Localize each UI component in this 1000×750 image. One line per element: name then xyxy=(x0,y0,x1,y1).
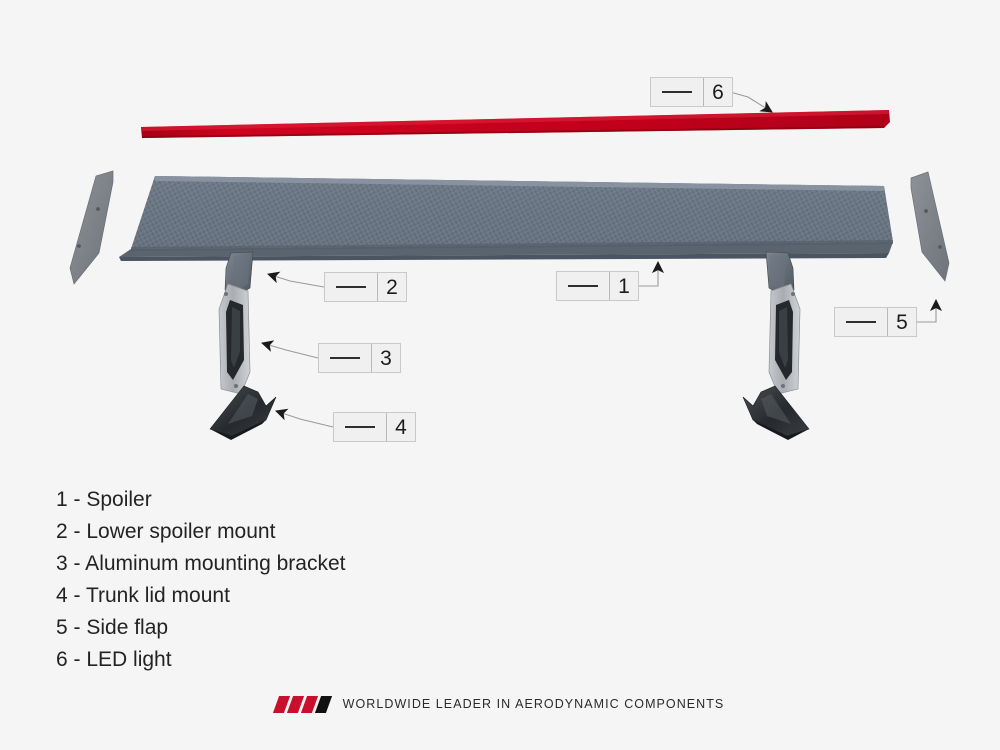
callout-number: 6 xyxy=(704,78,732,106)
part-aluminum-bracket-right xyxy=(769,284,800,394)
callout-dash-cell xyxy=(835,308,888,336)
callout-number: 1 xyxy=(610,272,638,300)
callout-number: 2 xyxy=(378,273,406,301)
dash-icon xyxy=(846,321,876,323)
part-led-light xyxy=(141,110,890,138)
parts-legend: 1 - Spoiler 2 - Lower spoiler mount 3 - … xyxy=(56,484,345,676)
diagram-canvas: 6 2 1 5 3 4 1 - Spoiler 2 - Lower spoile… xyxy=(0,0,1000,750)
dash-icon xyxy=(568,285,598,287)
callout-dash-cell xyxy=(557,272,610,300)
callout-dash-cell xyxy=(325,273,378,301)
legend-item: 4 - Trunk lid mount xyxy=(56,580,345,612)
callout-6[interactable]: 6 xyxy=(650,77,733,107)
callout-4[interactable]: 4 xyxy=(333,412,416,442)
callout-3[interactable]: 3 xyxy=(318,343,401,373)
dash-icon xyxy=(345,426,375,428)
dash-icon xyxy=(336,286,366,288)
callout-dash-cell xyxy=(319,344,372,372)
callout-dash-cell xyxy=(334,413,387,441)
callout-1[interactable]: 1 xyxy=(556,271,639,301)
part-side-flap-right xyxy=(911,172,949,281)
footer-bar: WORLDWIDE LEADER IN AERODYNAMIC COMPONEN… xyxy=(0,692,1000,716)
footer-tagline: WORLDWIDE LEADER IN AERODYNAMIC COMPONEN… xyxy=(343,697,725,711)
legend-item: 2 - Lower spoiler mount xyxy=(56,516,345,548)
dash-icon xyxy=(330,357,360,359)
callout-number: 4 xyxy=(387,413,415,441)
dash-icon xyxy=(662,91,692,93)
callout-dash-cell xyxy=(651,78,704,106)
part-spoiler-wing xyxy=(119,176,893,261)
legend-item: 3 - Aluminum mounting bracket xyxy=(56,548,345,580)
callout-number: 5 xyxy=(888,308,916,336)
callout-number: 3 xyxy=(372,344,400,372)
brand-logo-icon xyxy=(276,696,329,713)
legend-item: 6 - LED light xyxy=(56,644,345,676)
legend-item: 1 - Spoiler xyxy=(56,484,345,516)
part-side-flap-left xyxy=(70,171,113,284)
part-trunk-lid-mount-left xyxy=(210,386,276,440)
callout-2[interactable]: 2 xyxy=(324,272,407,302)
callout-5[interactable]: 5 xyxy=(834,307,917,337)
part-aluminum-bracket-left xyxy=(219,284,250,394)
legend-item: 5 - Side flap xyxy=(56,612,345,644)
part-trunk-lid-mount-right xyxy=(743,386,809,440)
